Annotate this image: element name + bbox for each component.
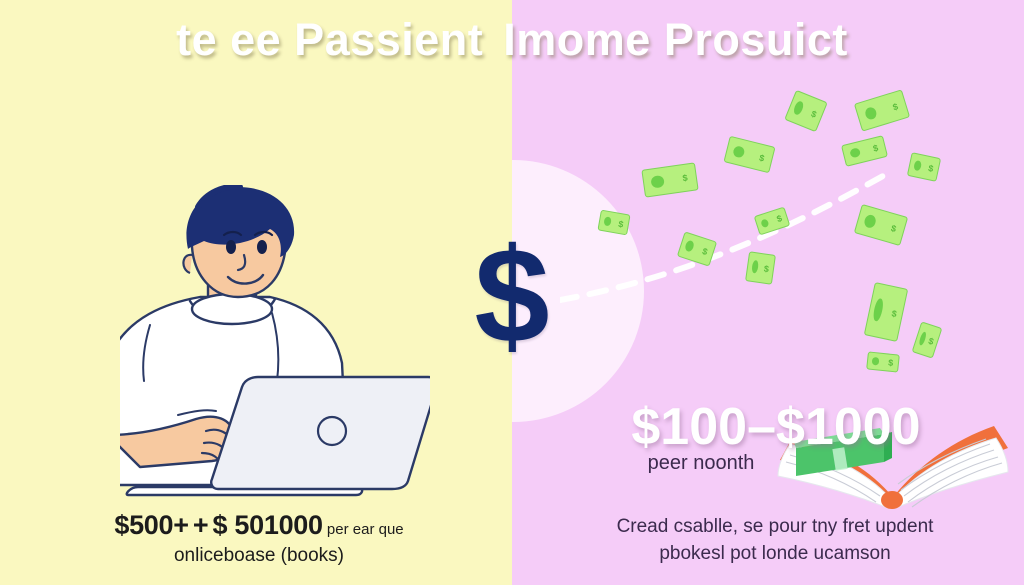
- page-title: te ee PassientImome Prosuict: [0, 8, 1024, 72]
- page-title-right-segment: Imome Prosuict: [499, 8, 848, 72]
- left-caption-line1: $500+ + $ 501000 per ear que: [24, 510, 494, 541]
- left-caption-amount-b: $ 501000: [213, 510, 323, 540]
- poster-canvas: te ee PassientImome Prosuict: [0, 0, 1024, 585]
- dollar-sign-icon: $: [0, 228, 1024, 363]
- left-caption-amount-a: $500+: [114, 510, 188, 540]
- right-caption: Cread csablle, se pour tny fret updent p…: [560, 513, 990, 567]
- price-headline: $100–$1000: [576, 398, 976, 456]
- price-subtitle: peer noonth: [576, 452, 826, 475]
- left-caption-tail: per ear que: [327, 521, 404, 538]
- left-caption-plus: +: [193, 510, 208, 540]
- page-title-left-segment: te ee Passient: [176, 8, 499, 72]
- right-caption-line1: Cread csablle, se pour tny fret updent: [560, 513, 990, 540]
- left-caption: $500+ + $ 501000 per ear que onliceboase…: [24, 510, 494, 567]
- left-caption-line2: onliceboase (books): [24, 545, 494, 567]
- right-caption-line2: pbokesl pot londe ucamson: [560, 540, 990, 567]
